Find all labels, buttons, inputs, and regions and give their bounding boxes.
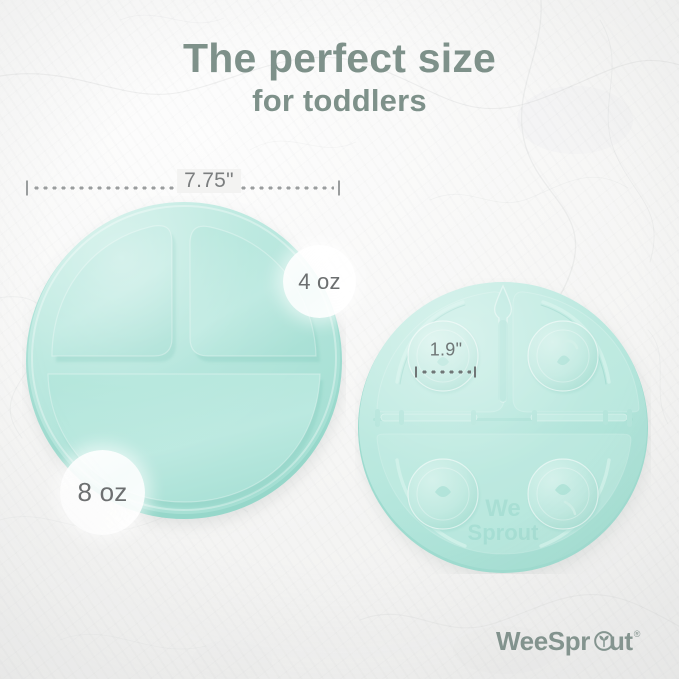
title-line-2: for toddlers — [0, 80, 679, 122]
dimension-small-cap-left — [415, 367, 417, 378]
product-infographic: The perfect size for toddlers — [0, 0, 679, 679]
dimension-cap-right — [338, 181, 340, 196]
brand-wordmark: WeeSpr — [496, 628, 590, 654]
dimension-label-diameter: 7.75" — [177, 169, 241, 193]
dimension-label-suction-cup: 1.9" — [430, 340, 463, 361]
capacity-badge-8oz: 8 oz — [60, 450, 145, 535]
brand-logo: WeeSpr o ut ® — [496, 628, 640, 654]
right-plate-back-view: We Sprout — [355, 278, 651, 574]
capacity-badge-4oz-label: 4 oz — [298, 269, 340, 295]
capacity-badge-4oz: 4 oz — [283, 245, 356, 318]
dimension-small-dotted-line — [420, 371, 471, 374]
dimension-cap-left — [26, 181, 28, 196]
page-title: The perfect size for toddlers — [0, 36, 679, 122]
right-plate-sheen — [359, 282, 647, 570]
registered-trademark-mark: ® — [634, 630, 641, 639]
capacity-badge-8oz-label: 8 oz — [78, 477, 128, 508]
dimension-plate-diameter: 7.75" — [26, 180, 340, 196]
sprout-icon — [594, 631, 614, 651]
title-line-1: The perfect size — [0, 36, 679, 80]
dimension-suction-cup-diameter: 1.9" — [415, 366, 476, 378]
dimension-small-cap-right — [474, 367, 476, 378]
